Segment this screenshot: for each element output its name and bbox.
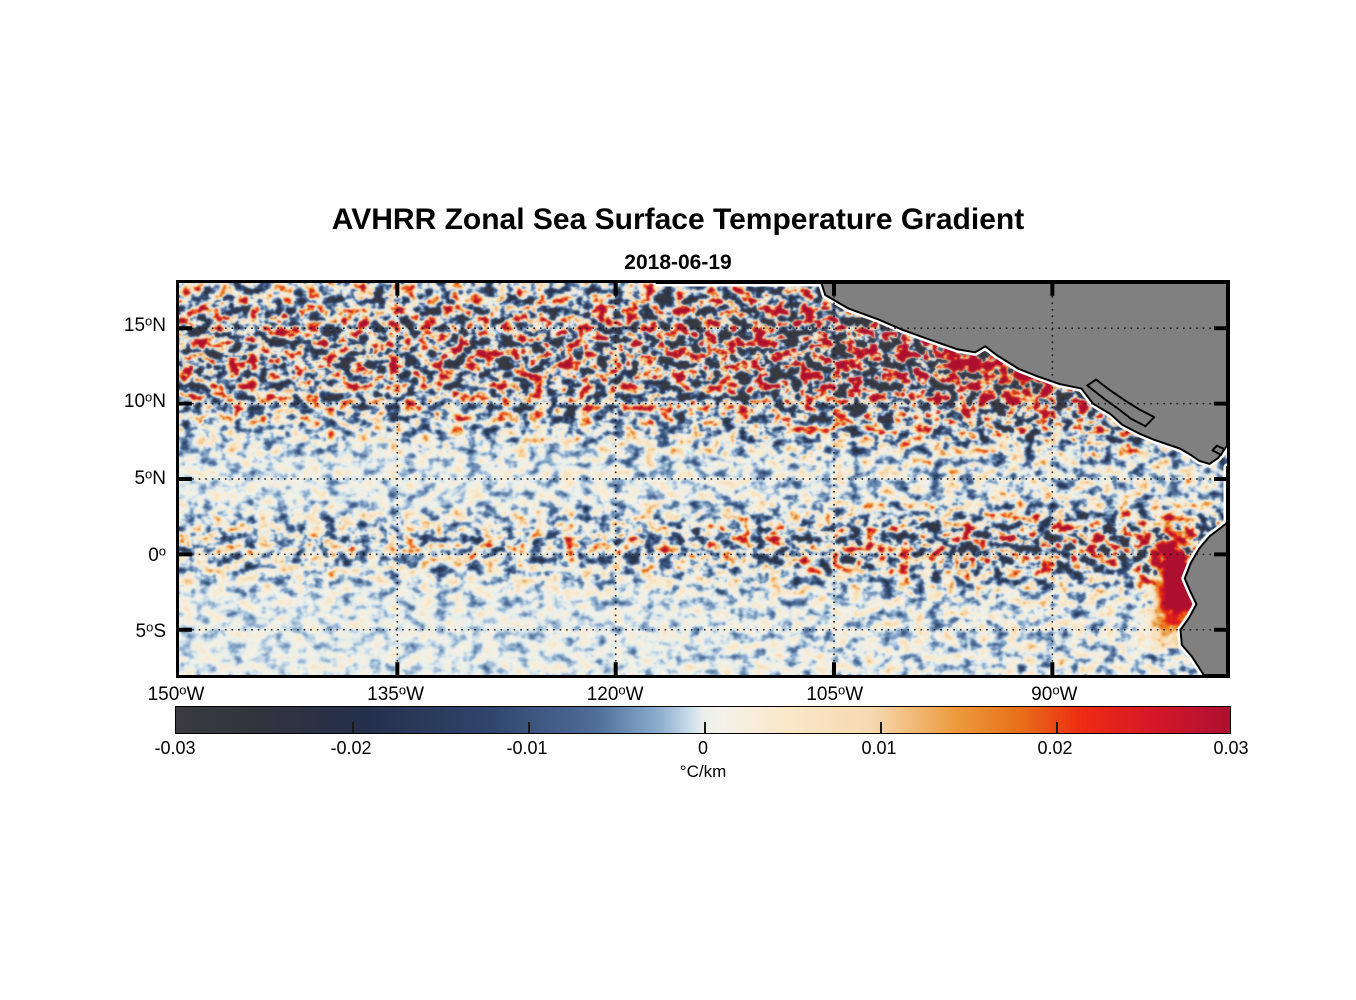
figure-subtitle: 2018-06-19 (0, 251, 1356, 275)
colorbar-tick-label: -0.02 (330, 738, 371, 759)
colorbar-tick-label: 0 (698, 738, 708, 759)
map-plot-area[interactable] (176, 280, 1230, 678)
x-tick-label: 105oW (806, 684, 863, 706)
colorbar-tick-label: 0.01 (861, 738, 896, 759)
y-tick-label: 5oN (134, 468, 166, 490)
y-tick-label: 0o (148, 545, 166, 567)
y-axis-ticklabels: 15oN10oN5oN0o5oS (118, 280, 166, 678)
colorbar-gradient (176, 707, 1230, 733)
x-tick-label: 120oW (587, 684, 644, 706)
y-tick-label: 5oS (136, 621, 167, 643)
colorbar-tick-label: 0.02 (1037, 738, 1072, 759)
figure-canvas: AVHRR Zonal Sea Surface Temperature Grad… (0, 0, 1356, 1000)
colorbar-ticklabels: -0.03-0.02-0.0100.010.020.03 (175, 738, 1231, 762)
colorbar-tick-label: -0.03 (154, 738, 195, 759)
colorbar-tickmark (704, 722, 706, 733)
x-tick-label: 90oW (1031, 684, 1077, 706)
x-tick-label: 135oW (367, 684, 424, 706)
colorbar-tickmark (352, 722, 354, 733)
sst-gradient-heatmap (179, 283, 1227, 675)
y-tick-label: 15oN (124, 315, 166, 337)
colorbar-tick-label: -0.01 (506, 738, 547, 759)
colorbar-tickmark (1056, 722, 1058, 733)
colorbar-tickmark (880, 722, 882, 733)
colorbar-tickmark (528, 722, 530, 733)
colorbar-tick-label: 0.03 (1213, 738, 1248, 759)
colorbar[interactable] (175, 706, 1231, 734)
figure-title: AVHRR Zonal Sea Surface Temperature Grad… (0, 203, 1356, 237)
y-tick-label: 10oN (124, 391, 166, 413)
colorbar-unit-label: °C/km (175, 762, 1231, 782)
x-tick-label: 150oW (148, 684, 205, 706)
